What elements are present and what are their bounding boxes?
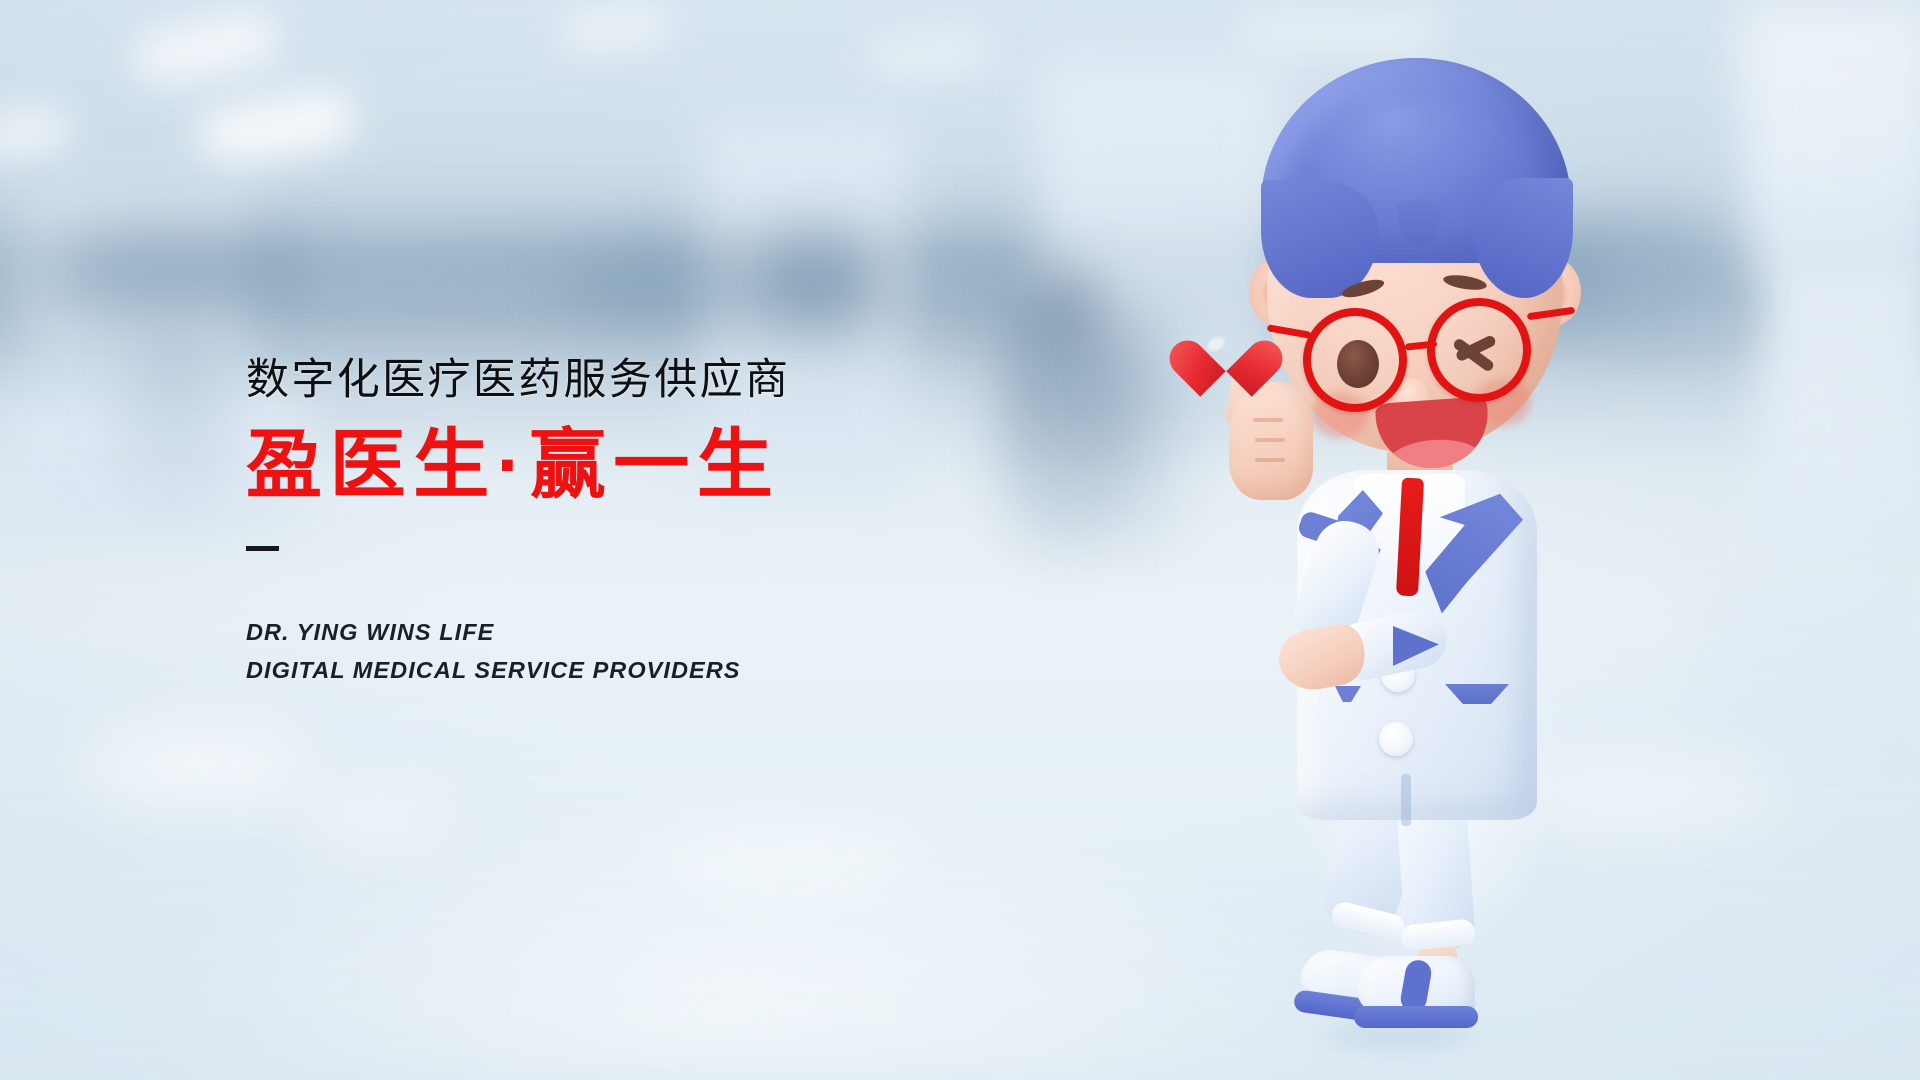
equipment-dark-mid [760,230,880,330]
heart-highlight [1205,334,1227,353]
knuckle-line-3 [1255,458,1285,462]
subtitle-english: DR. YING WINS LIFE DIGITAL MEDICAL SERVI… [246,613,1106,689]
heart-icon [1195,330,1261,390]
main-title-chinese: 盈医生·赢一生 [246,426,1106,506]
subtitle-line-1: DR. YING WINS LIFE [246,613,1106,651]
shoe-front-sole [1354,1006,1478,1028]
shadow-accent-topleft [40,230,300,310]
eye-winking-right [1453,330,1507,376]
floor-reflection [0,660,1920,1080]
tongue [1386,437,1485,472]
coat-button-bottom [1379,722,1413,756]
hero-text-block: 数字化医疗医药服务供应商 盈医生·赢一生 DR. YING WINS LIFE … [246,356,1106,689]
floor-highlight-1 [80,730,310,800]
knuckle-line-2 [1255,438,1285,442]
knuckle-line-1 [1253,418,1283,422]
window-panel-right [1740,0,1920,270]
ceiling-light-6 [1240,10,1440,54]
subtitle-line-2: DIGITAL MEDICAL SERVICE PROVIDERS [246,651,1106,689]
divider-rule [246,546,279,551]
coat-slit [1401,774,1411,826]
hair-sideburn-left [1261,180,1379,298]
eye-open-left [1337,340,1379,388]
headline-chinese: 数字化医疗医药服务供应商 [246,356,1106,404]
mouth-open-smile [1375,396,1491,472]
doctor-mascot-illustration [1205,50,1625,1050]
window-panel-right-2 [1760,250,1920,550]
floor-highlight-3 [640,830,920,890]
hand-finger-heart-gesture [1229,382,1313,500]
floor-highlight-2 [300,790,450,846]
person-silhouette-3 [120,330,230,520]
hero-banner: 数字化医疗医药服务供应商 盈医生·赢一生 DR. YING WINS LIFE … [0,0,1920,1080]
